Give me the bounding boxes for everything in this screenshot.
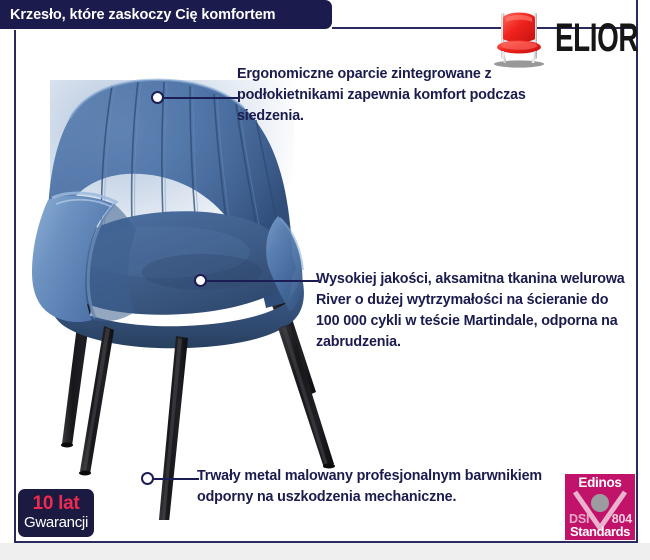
callout-text-upholstery: Wysokiej jakości, aksamitna tkanina welu… [316,269,628,352]
page-title: Krzesło, które zaskoczy Cię komfortem [10,7,275,23]
brand-wordmark: ELIOR [555,15,638,61]
red-chair-icon [489,7,549,69]
callout-text-backrest: Ergonomiczne oparcie zintegrowane z podł… [237,64,567,127]
warranty-badge: 10 lat Gwarancji [18,489,94,537]
frame-border-right [636,0,638,542]
callout-leader-line [153,478,199,480]
warranty-label: Gwarancji [24,514,88,531]
header-banner: Krzesło, które zaskoczy Cię komfortem [0,0,332,29]
edinos-standards-badge: Edinos DSI 804 Standards [565,474,635,540]
edinos-title: Edinos [565,475,635,490]
callout-text-metal-frame: Trwały metal malowany profesjonalnym bar… [197,466,545,508]
warranty-years: 10 lat [33,494,80,513]
edinos-standards-label: Standards [565,524,635,539]
callout-leader-line [163,97,239,99]
bottom-band [0,543,650,560]
infographic-page: Krzesło, które zaskoczy Cię komfortem [0,0,650,560]
brand-logo: ELIOR [489,6,635,70]
callout-leader-line [206,280,318,282]
